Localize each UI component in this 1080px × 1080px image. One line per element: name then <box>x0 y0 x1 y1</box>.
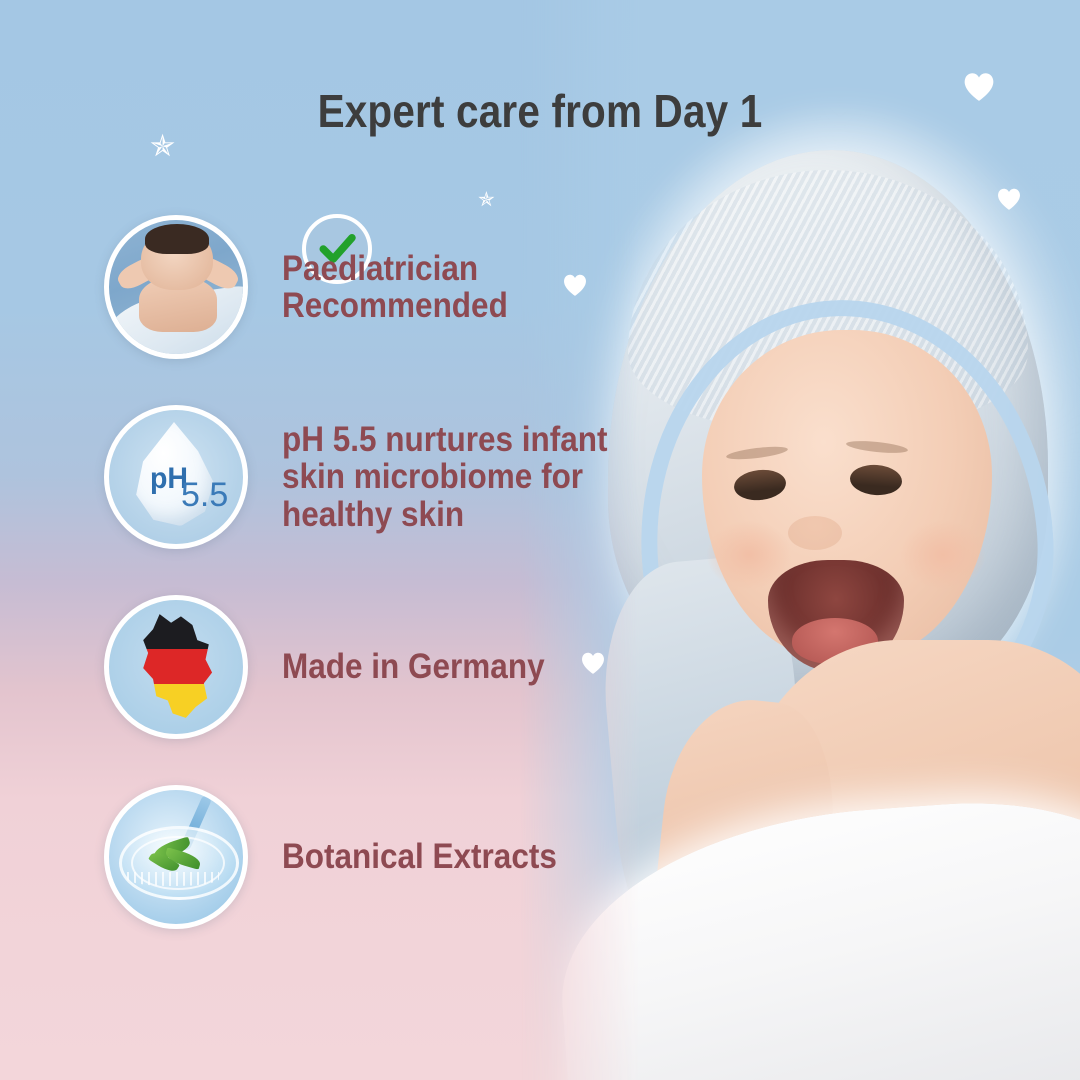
heart-2 <box>996 186 1022 211</box>
feature-item-ph: pH 5.5 pH 5.5 nurtures infant skin micro… <box>104 402 664 552</box>
feature-label: Botanical Extracts <box>282 838 557 875</box>
baby-nose <box>788 516 842 550</box>
feature-label: Paediatrician Recommended <box>282 250 508 324</box>
star-1: ✯ <box>150 132 175 162</box>
feature-label: Made in Germany <box>282 648 545 685</box>
baby-cheek-right <box>900 520 986 590</box>
newborn-hair <box>145 224 209 254</box>
germany-map-silhouette <box>135 612 217 720</box>
newborn-photo-icon <box>104 215 248 359</box>
feature-label: pH 5.5 nurtures infant skin microbiome f… <box>282 421 608 532</box>
page-title: Expert care from Day 1 <box>65 84 1015 138</box>
feature-item-botanical: Botanical Extracts <box>104 782 664 932</box>
ph-droplet-icon: pH 5.5 <box>104 405 248 549</box>
heart-1 <box>962 70 996 102</box>
flag-band-black <box>135 612 217 649</box>
petri-dish-plant-icon <box>104 785 248 929</box>
flag-band-gold <box>135 684 217 720</box>
flag-band-red <box>135 649 217 685</box>
feature-list: Paediatrician Recommended pH 5.5 pH 5.5 … <box>104 212 664 972</box>
ph-value-text: 5.5 <box>181 476 228 515</box>
heart-4 <box>580 650 606 675</box>
star-2: ✯ <box>478 190 495 210</box>
promo-poster: Expert care from Day 1 Paediatrician Rec <box>0 0 1080 1080</box>
heart-3 <box>562 272 588 297</box>
dish-measure-ticks <box>127 872 219 886</box>
germany-map-flag-icon <box>104 595 248 739</box>
